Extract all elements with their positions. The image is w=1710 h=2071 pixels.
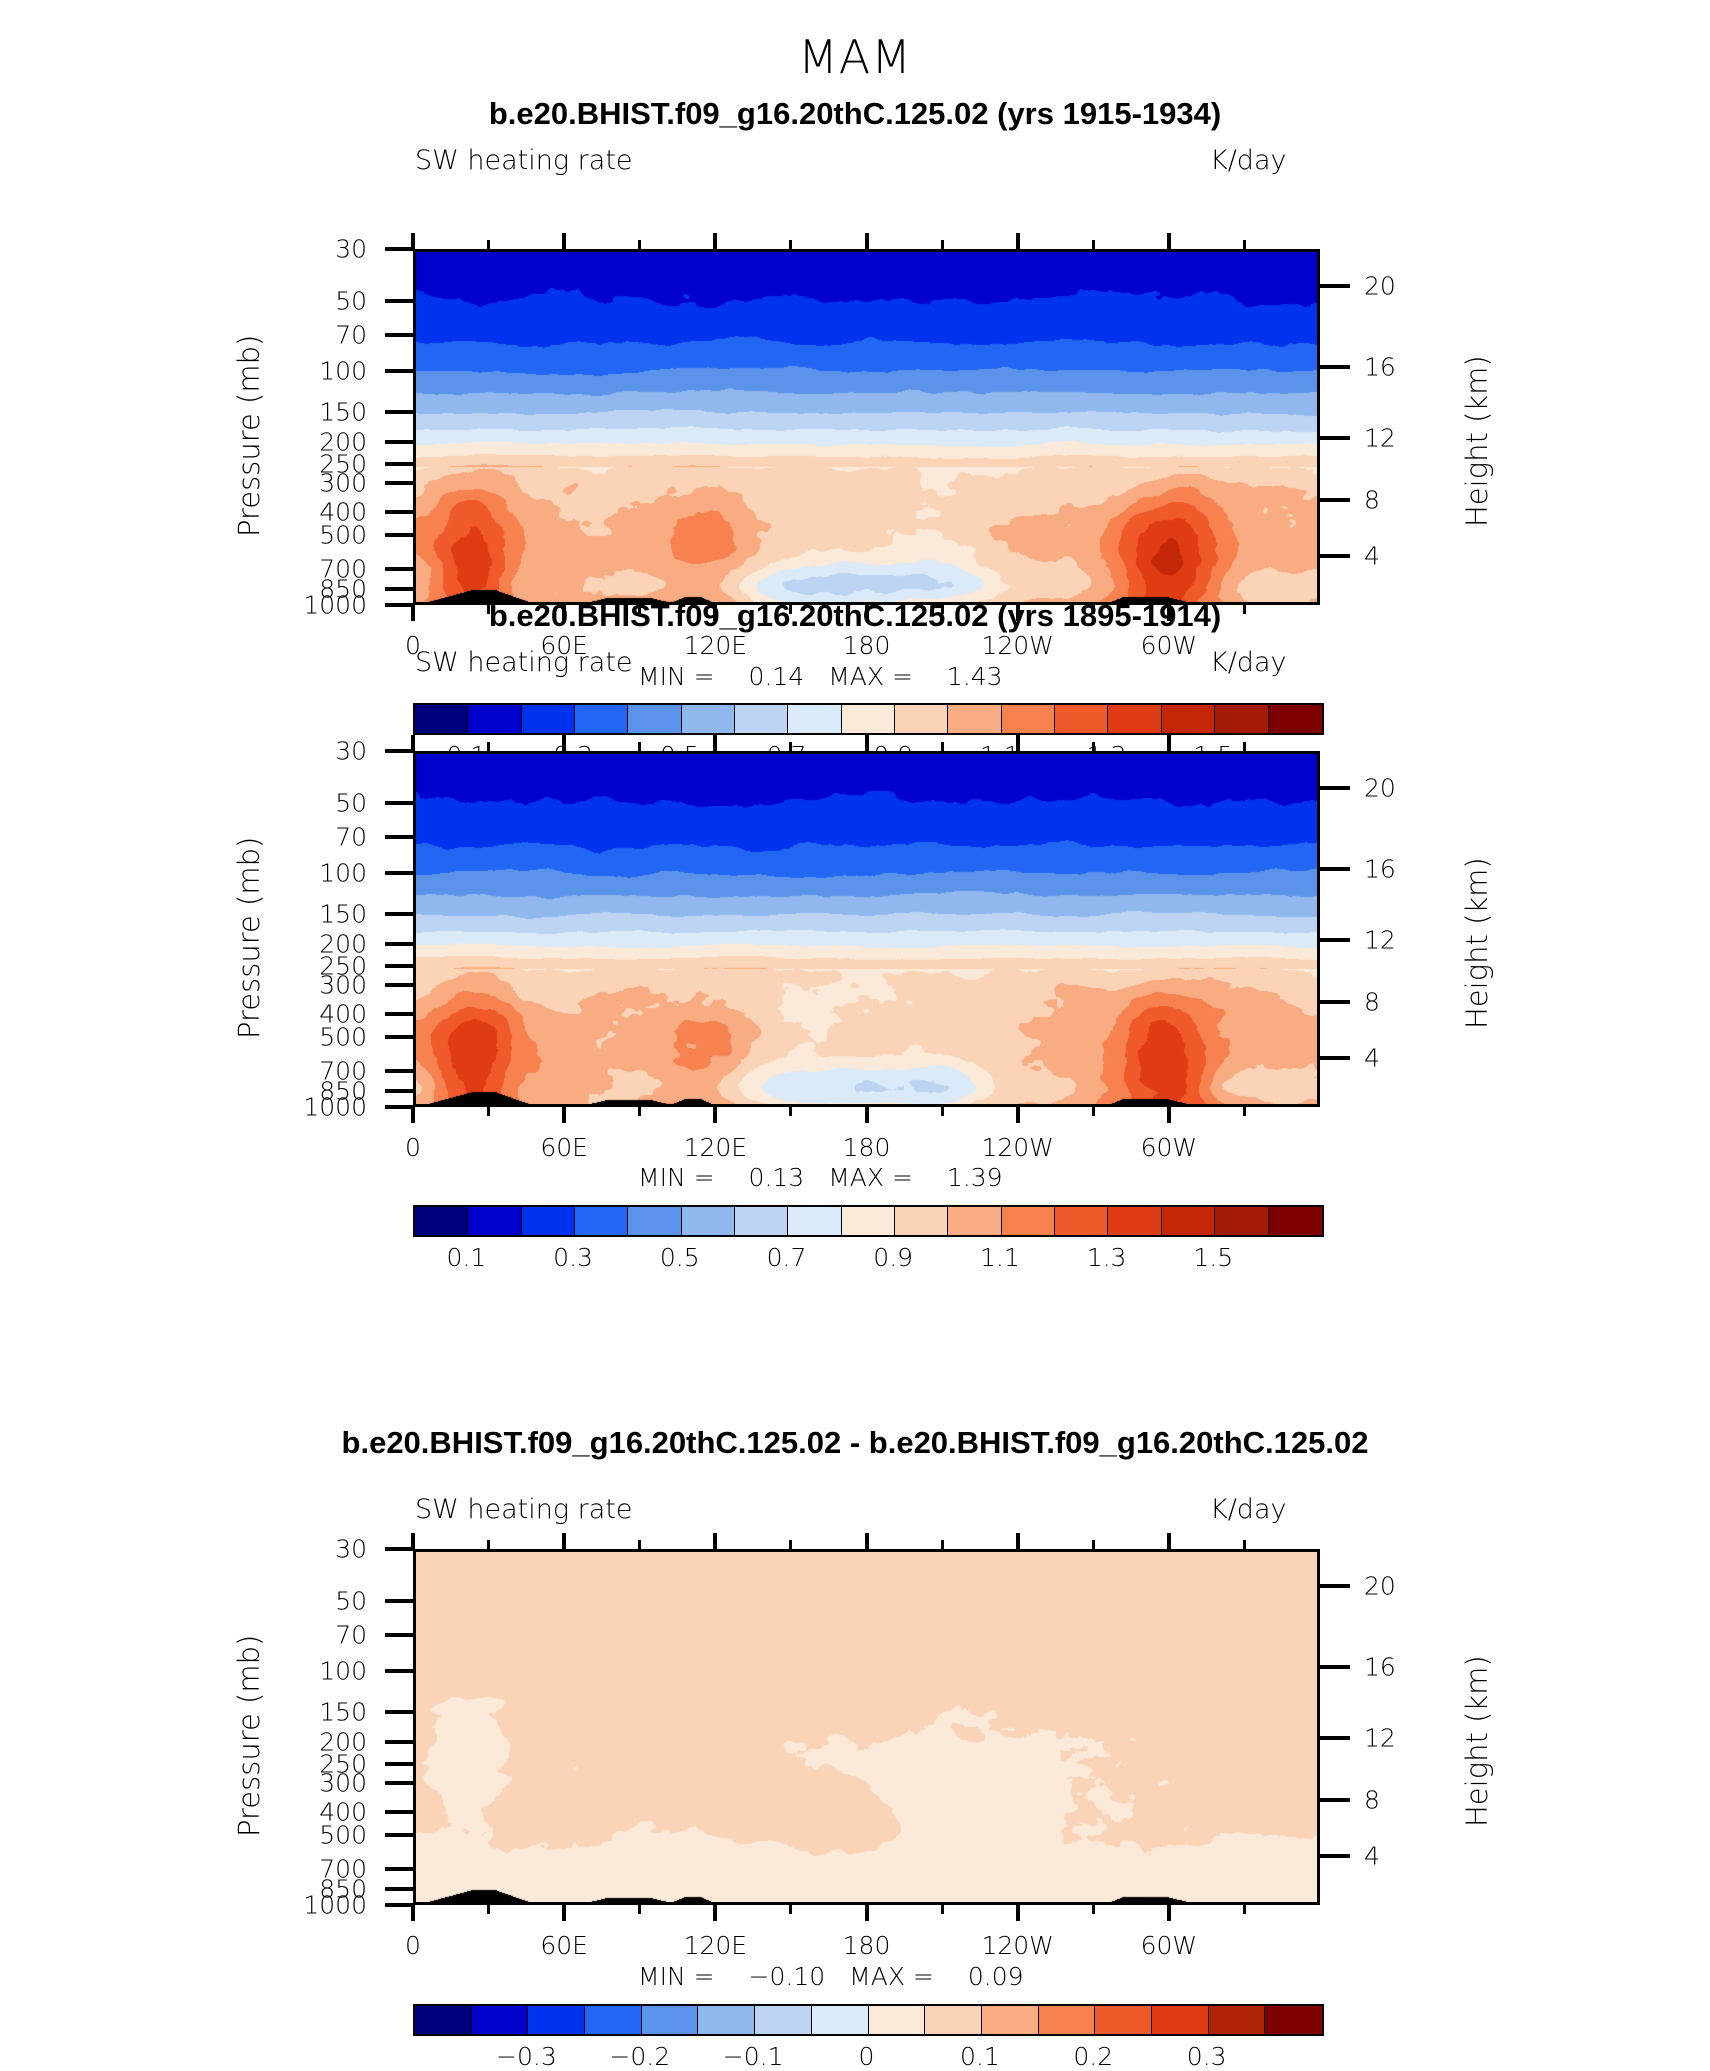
colorbar-cell <box>1162 705 1215 733</box>
min-value: 0.14 <box>749 662 805 691</box>
colorbar-cell <box>842 1207 895 1235</box>
pressure-tick-label: 1000 <box>0 591 367 620</box>
top-tick-mark <box>562 735 566 751</box>
pressure-tick-mark <box>385 1762 413 1766</box>
pressure-tick-mark <box>385 533 413 537</box>
colorbar-cell <box>522 1207 575 1235</box>
pressure-tick-mark <box>385 1867 413 1871</box>
longitude-minor-tick <box>1092 1905 1095 1914</box>
longitude-tick-mark <box>562 605 566 621</box>
height-tick-label: 16 <box>1364 855 1396 884</box>
pressure-tick-mark <box>385 1810 413 1814</box>
top-tick-mark <box>865 1533 869 1549</box>
colorbar-tick-label: 0.3 <box>1187 2042 1227 2071</box>
pressure-tick-mark <box>385 462 413 466</box>
pressure-tick-label: 500 <box>0 520 367 549</box>
height-tick-mark <box>1320 436 1350 440</box>
height-tick-mark <box>1320 1854 1350 1858</box>
contour-canvas <box>416 1552 1317 1902</box>
colorbar-tick-label: 1.5 <box>1193 741 1233 770</box>
pressure-tick-mark <box>385 964 413 968</box>
pressure-tick-label: 150 <box>0 1698 367 1727</box>
longitude-tick-label: 120E <box>684 631 748 660</box>
colorbar-cell <box>1002 705 1055 733</box>
max-value: 1.39 <box>947 1163 1003 1192</box>
height-tick-label: 12 <box>1364 925 1396 954</box>
colorbar-cell <box>1108 705 1161 733</box>
colorbar-cell <box>869 2006 926 2034</box>
longitude-minor-tick <box>941 1905 944 1914</box>
colorbar-cell <box>522 705 575 733</box>
longitude-tick-label: 60W <box>1141 631 1198 660</box>
colorbar-cell <box>472 2006 529 2034</box>
colorbar-tick-label: 0.3 <box>553 741 593 770</box>
plot-caption-right: K/day <box>1210 145 1286 176</box>
longitude-minor-tick <box>487 1905 490 1914</box>
top-tick-mark <box>562 1533 566 1549</box>
colorbar-cell <box>735 705 788 733</box>
top-tick-mark <box>411 1533 415 1549</box>
longitude-minor-tick <box>1243 1107 1246 1116</box>
pressure-tick-label: 700 <box>0 1056 367 1085</box>
pressure-tick-mark <box>385 1547 413 1551</box>
colorbar-tick-label: 0.5 <box>660 741 700 770</box>
colorbar-tick-label: 1.3 <box>1087 1243 1127 1272</box>
longitude-minor-tick <box>487 1107 490 1116</box>
top-tick-mark <box>1016 233 1020 249</box>
longitude-tick-label: 60E <box>540 1931 588 1960</box>
pressure-tick-label: 50 <box>0 1586 367 1615</box>
top-minor-tick <box>941 240 944 249</box>
panel-title: b.e20.BHIST.f09_g16.20thC.125.02 (yrs 19… <box>0 96 1710 132</box>
colorbar-cell <box>415 2006 472 2034</box>
colorbar-tick-label: 0.9 <box>873 1243 913 1272</box>
top-tick-mark <box>411 233 415 249</box>
colorbar-cell <box>1095 2006 1152 2034</box>
longitude-tick-label: 60E <box>540 631 588 660</box>
colorbar-tick-label: 0.1 <box>446 1243 486 1272</box>
pressure-tick-mark <box>385 1781 413 1785</box>
top-tick-mark <box>1016 735 1020 751</box>
longitude-minor-tick <box>789 605 792 614</box>
height-tick-mark <box>1320 786 1350 790</box>
longitude-minor-tick <box>638 1107 641 1116</box>
longitude-tick-label: 120E <box>684 1133 748 1162</box>
plot-caption-left: SW heating rate <box>415 145 633 176</box>
colorbar-cell <box>628 705 681 733</box>
pressure-tick-label: 400 <box>0 999 367 1028</box>
colorbar-tick-label: 0.1 <box>446 741 486 770</box>
colorbar-cell <box>895 1207 948 1235</box>
longitude-tick-mark <box>562 1905 566 1921</box>
pressure-tick-mark <box>385 749 413 753</box>
pressure-tick-label: 400 <box>0 497 367 526</box>
height-tick-label: 16 <box>1364 1653 1396 1682</box>
colorbar-tick-label: 0.7 <box>767 1243 807 1272</box>
colorbar-cell <box>1269 1207 1322 1235</box>
y-axis-label-pressure: Pressure (mb) <box>232 1635 266 1837</box>
colorbar[interactable] <box>413 703 1324 735</box>
longitude-tick-label: 0 <box>405 1133 421 1162</box>
min-value: 0.13 <box>749 1163 805 1192</box>
minmax-annotation: MIN =0.14MAX =1.43 <box>638 662 1003 691</box>
height-tick-label: 12 <box>1364 1723 1396 1752</box>
pressure-tick-label: 250 <box>0 1750 367 1779</box>
max-value: 1.43 <box>947 662 1003 691</box>
colorbar-tick-label: 1.1 <box>980 1243 1020 1272</box>
colorbar[interactable] <box>413 1205 1324 1237</box>
top-tick-mark <box>1167 233 1171 249</box>
colorbar-cell <box>682 705 735 733</box>
height-tick-label: 20 <box>1364 1572 1396 1601</box>
panel-1: b.e20.BHIST.f09_g16.20thC.125.02 (yrs 19… <box>0 0 1710 2038</box>
top-tick-mark <box>562 233 566 249</box>
pressure-tick-label: 300 <box>0 970 367 999</box>
pressure-tick-mark <box>385 1105 413 1109</box>
top-minor-tick <box>638 742 641 751</box>
plot-caption-right: K/day <box>1210 647 1286 678</box>
height-tick-mark <box>1320 1000 1350 1004</box>
pressure-tick-label: 850 <box>0 574 367 603</box>
top-minor-tick <box>1092 742 1095 751</box>
pressure-tick-label: 30 <box>0 235 367 264</box>
pressure-tick-label: 200 <box>0 929 367 958</box>
y-axis-label-height: Height (km) <box>1460 1655 1494 1827</box>
colorbar-cell <box>1215 705 1268 733</box>
pressure-tick-label: 70 <box>0 823 367 852</box>
pressure-tick-mark <box>385 801 413 805</box>
height-tick-mark <box>1320 1056 1350 1060</box>
longitude-tick-label: 120E <box>684 1931 748 1960</box>
pressure-tick-label: 700 <box>0 1854 367 1883</box>
colorbar-tick-label: 0.2 <box>1073 2042 1113 2071</box>
height-tick-label: 16 <box>1364 353 1396 382</box>
contour-plot-area <box>413 751 1320 1107</box>
pressure-tick-mark <box>385 247 413 251</box>
pressure-tick-label: 100 <box>0 1657 367 1686</box>
pressure-tick-label: 200 <box>0 427 367 456</box>
longitude-tick-mark <box>1016 1905 1020 1921</box>
panel-3: b.e20.BHIST.f09_g16.20thC.125.02 - b.e20… <box>0 0 1710 2038</box>
colorbar-tick-label: 0.1 <box>960 2042 1000 2071</box>
colorbar-tick-label: 0.7 <box>767 741 807 770</box>
longitude-tick-mark <box>1167 1107 1171 1123</box>
height-tick-label: 20 <box>1364 774 1396 803</box>
top-minor-tick <box>789 1540 792 1549</box>
pressure-tick-label: 500 <box>0 1820 367 1849</box>
colorbar-cell <box>1108 1207 1161 1235</box>
y-axis-label-height: Height (km) <box>1460 857 1494 1029</box>
colorbar-cell <box>575 705 628 733</box>
colorbar-cell <box>735 1207 788 1235</box>
max-label: MAX = <box>828 1163 913 1192</box>
top-tick-mark <box>1016 1533 1020 1549</box>
colorbar-cell <box>415 1207 468 1235</box>
colorbar-tick-label: −0.2 <box>609 2042 670 2071</box>
pressure-tick-label: 50 <box>0 788 367 817</box>
pressure-tick-mark <box>385 1887 413 1891</box>
pressure-tick-mark <box>385 1012 413 1016</box>
top-minor-tick <box>941 742 944 751</box>
longitude-tick-label: 180 <box>843 1133 891 1162</box>
colorbar-cell <box>1002 1207 1055 1235</box>
pressure-tick-mark <box>385 1710 413 1714</box>
longitude-tick-mark <box>411 605 415 621</box>
max-label: MAX = <box>849 1962 934 1991</box>
top-minor-tick <box>941 1540 944 1549</box>
pressure-tick-mark <box>385 567 413 571</box>
y-axis-label-pressure: Pressure (mb) <box>232 837 266 1039</box>
pressure-tick-label: 70 <box>0 1621 367 1650</box>
longitude-tick-mark <box>1167 1905 1171 1921</box>
height-tick-label: 4 <box>1364 541 1380 570</box>
longitude-minor-tick <box>941 605 944 614</box>
height-tick-mark <box>1320 867 1350 871</box>
top-minor-tick <box>1092 240 1095 249</box>
pressure-tick-mark <box>385 333 413 337</box>
top-minor-tick <box>487 240 490 249</box>
longitude-minor-tick <box>638 605 641 614</box>
min-value: −0.10 <box>749 1962 826 1991</box>
longitude-tick-mark <box>713 605 717 621</box>
longitude-minor-tick <box>638 1905 641 1914</box>
pressure-tick-mark <box>385 1633 413 1637</box>
minmax-annotation: MIN =0.13MAX =1.39 <box>638 1163 1003 1192</box>
longitude-tick-label: 120W <box>981 631 1053 660</box>
top-minor-tick <box>487 1540 490 1549</box>
y-axis-label-height: Height (km) <box>1460 355 1494 527</box>
colorbar-cell <box>628 1207 681 1235</box>
pressure-tick-mark <box>385 587 413 591</box>
longitude-tick-label: 0 <box>405 1931 421 1960</box>
longitude-tick-label: 0 <box>405 631 421 660</box>
longitude-minor-tick <box>941 1107 944 1116</box>
contour-plot-area <box>413 1549 1320 1905</box>
longitude-tick-mark <box>713 1107 717 1123</box>
height-tick-mark <box>1320 284 1350 288</box>
colorbar-cell <box>1055 705 1108 733</box>
pressure-tick-mark <box>385 299 413 303</box>
longitude-tick-mark <box>713 1905 717 1921</box>
pressure-tick-mark <box>385 603 413 607</box>
longitude-minor-tick <box>487 605 490 614</box>
pressure-tick-label: 30 <box>0 1535 367 1564</box>
colorbar-cell <box>698 2006 755 2034</box>
height-tick-mark <box>1320 1798 1350 1802</box>
pressure-tick-mark <box>385 1069 413 1073</box>
pressure-tick-label: 150 <box>0 900 367 929</box>
colorbar-cell <box>1209 2006 1266 2034</box>
colorbar-tick-label: 1.3 <box>1087 741 1127 770</box>
height-tick-label: 4 <box>1364 1841 1380 1870</box>
pressure-tick-label: 250 <box>0 952 367 981</box>
longitude-tick-label: 180 <box>843 1931 891 1960</box>
longitude-tick-label: 60E <box>540 1133 588 1162</box>
colorbar-cell <box>1265 2006 1322 2034</box>
colorbar-cell <box>1039 2006 1096 2034</box>
max-label: MAX = <box>828 662 913 691</box>
pressure-tick-label: 850 <box>0 1076 367 1105</box>
pressure-tick-label: 300 <box>0 468 367 497</box>
min-label: MIN = <box>638 1962 715 1991</box>
top-minor-tick <box>789 742 792 751</box>
pressure-tick-label: 250 <box>0 450 367 479</box>
top-minor-tick <box>1092 1540 1095 1549</box>
top-tick-mark <box>1167 1533 1171 1549</box>
top-tick-mark <box>713 735 717 751</box>
longitude-minor-tick <box>1243 605 1246 614</box>
height-tick-mark <box>1320 365 1350 369</box>
longitude-tick-mark <box>1016 605 1020 621</box>
colorbar-cell <box>788 705 841 733</box>
colorbar-tick-label: 0.5 <box>660 1243 700 1272</box>
colorbar-tick-label: −0.1 <box>723 2042 784 2071</box>
pressure-tick-label: 70 <box>0 321 367 350</box>
panel-title: b.e20.BHIST.f09_g16.20thC.125.02 (yrs 18… <box>0 598 1710 634</box>
longitude-minor-tick <box>1092 1107 1095 1116</box>
colorbar-cell <box>528 2006 585 2034</box>
colorbar-cell <box>788 1207 841 1235</box>
colorbar-cell <box>468 1207 521 1235</box>
pressure-tick-label: 300 <box>0 1768 367 1797</box>
height-tick-label: 8 <box>1364 486 1380 515</box>
pressure-tick-label: 100 <box>0 859 367 888</box>
longitude-tick-mark <box>562 1107 566 1123</box>
pressure-tick-label: 30 <box>0 737 367 766</box>
longitude-tick-label: 180 <box>843 631 891 660</box>
longitude-tick-label: 60W <box>1141 1931 1198 1960</box>
min-label: MIN = <box>638 1163 715 1192</box>
colorbar-tick-label: 0.3 <box>553 1243 593 1272</box>
height-tick-mark <box>1320 498 1350 502</box>
pressure-tick-label: 850 <box>0 1874 367 1903</box>
colorbar-tick-label: 1.5 <box>1193 1243 1233 1272</box>
colorbar-cell <box>1162 1207 1215 1235</box>
pressure-tick-mark <box>385 1089 413 1093</box>
minmax-annotation: MIN =−0.10MAX =0.09 <box>638 1962 1024 1991</box>
pressure-tick-label: 500 <box>0 1022 367 1051</box>
colorbar-tick-label: 0.9 <box>873 741 913 770</box>
top-minor-tick <box>638 240 641 249</box>
min-label: MIN = <box>638 662 715 691</box>
pressure-tick-mark <box>385 983 413 987</box>
pressure-tick-mark <box>385 942 413 946</box>
colorbar-cell <box>755 2006 812 2034</box>
pressure-tick-mark <box>385 912 413 916</box>
pressure-tick-mark <box>385 510 413 514</box>
longitude-tick-mark <box>865 1905 869 1921</box>
height-tick-mark <box>1320 1736 1350 1740</box>
colorbar-cell <box>682 1207 735 1235</box>
colorbar[interactable] <box>413 2004 1324 2036</box>
top-tick-mark <box>1167 735 1171 751</box>
colorbar-cell <box>812 2006 869 2034</box>
colorbar-cell <box>925 2006 982 2034</box>
colorbar-cell <box>842 705 895 733</box>
height-tick-label: 20 <box>1364 272 1396 301</box>
colorbar-cell <box>1055 1207 1108 1235</box>
height-tick-mark <box>1320 1584 1350 1588</box>
longitude-tick-label: 120W <box>981 1931 1053 1960</box>
colorbar-tick-label: 0 <box>859 2042 875 2071</box>
height-tick-label: 8 <box>1364 988 1380 1017</box>
colorbar-cell <box>948 1207 1001 1235</box>
pressure-tick-label: 200 <box>0 1727 367 1756</box>
top-minor-tick <box>1243 1540 1246 1549</box>
plot-caption-left: SW heating rate <box>415 647 633 678</box>
top-minor-tick <box>638 1540 641 1549</box>
pressure-tick-label: 400 <box>0 1797 367 1826</box>
pressure-tick-mark <box>385 871 413 875</box>
top-minor-tick <box>487 742 490 751</box>
height-tick-mark <box>1320 1665 1350 1669</box>
page-title: MAM <box>0 30 1710 84</box>
top-minor-tick <box>789 240 792 249</box>
longitude-tick-mark <box>411 1107 415 1123</box>
pressure-tick-label: 700 <box>0 554 367 583</box>
longitude-tick-mark <box>865 1107 869 1123</box>
contour-canvas <box>416 252 1317 602</box>
colorbar-cell <box>1269 705 1322 733</box>
pressure-tick-mark <box>385 1833 413 1837</box>
longitude-tick-label: 60W <box>1141 1133 1198 1162</box>
colorbar-cell <box>1215 1207 1268 1235</box>
contour-canvas <box>416 754 1317 1104</box>
pressure-tick-mark <box>385 481 413 485</box>
colorbar-tick-label: 1.1 <box>980 741 1020 770</box>
colorbar-tick-label: −0.3 <box>496 2042 557 2071</box>
plot-caption-right: K/day <box>1210 1494 1286 1525</box>
pressure-tick-label: 1000 <box>0 1093 367 1122</box>
contour-plot-area <box>413 249 1320 605</box>
pressure-tick-mark <box>385 1599 413 1603</box>
longitude-tick-label: 120W <box>981 1133 1053 1162</box>
longitude-minor-tick <box>789 1107 792 1116</box>
pressure-tick-mark <box>385 440 413 444</box>
top-minor-tick <box>1243 240 1246 249</box>
top-tick-mark <box>865 233 869 249</box>
pressure-tick-label: 100 <box>0 357 367 386</box>
height-tick-mark <box>1320 554 1350 558</box>
colorbar-cell <box>415 705 468 733</box>
top-tick-mark <box>865 735 869 751</box>
height-tick-label: 8 <box>1364 1786 1380 1815</box>
colorbar-cell <box>575 1207 628 1235</box>
height-tick-label: 4 <box>1364 1043 1380 1072</box>
pressure-tick-mark <box>385 1669 413 1673</box>
colorbar-cell <box>585 2006 642 2034</box>
colorbar-cell <box>642 2006 699 2034</box>
longitude-tick-mark <box>1167 605 1171 621</box>
longitude-tick-mark <box>411 1905 415 1921</box>
longitude-minor-tick <box>1243 1905 1246 1914</box>
colorbar-cell <box>895 705 948 733</box>
pressure-tick-mark <box>385 1740 413 1744</box>
pressure-tick-mark <box>385 1035 413 1039</box>
pressure-tick-mark <box>385 835 413 839</box>
pressure-tick-mark <box>385 369 413 373</box>
top-minor-tick <box>1243 742 1246 751</box>
top-tick-mark <box>713 233 717 249</box>
height-tick-label: 12 <box>1364 423 1396 452</box>
longitude-minor-tick <box>789 1905 792 1914</box>
colorbar-cell <box>948 705 1001 733</box>
panel-2: b.e20.BHIST.f09_g16.20thC.125.02 (yrs 18… <box>0 0 1710 2038</box>
pressure-tick-label: 50 <box>0 286 367 315</box>
height-tick-mark <box>1320 938 1350 942</box>
panel-title: b.e20.BHIST.f09_g16.20thC.125.02 - b.e20… <box>0 1425 1710 1461</box>
max-value: 0.09 <box>968 1962 1024 1991</box>
